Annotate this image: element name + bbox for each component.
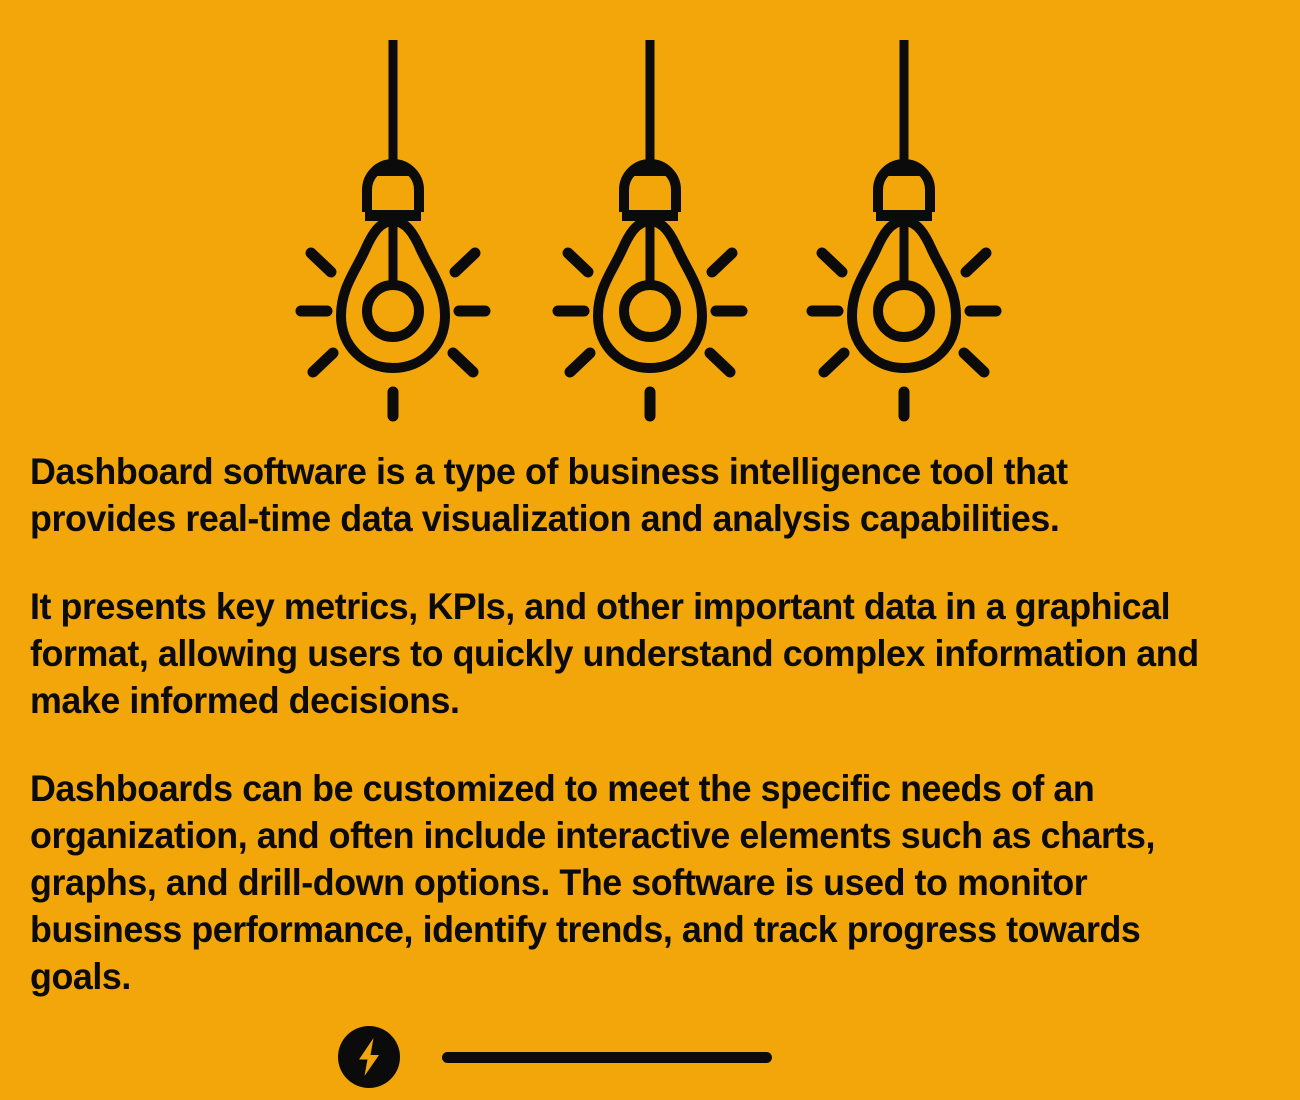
lightbulb-icon-1 xyxy=(301,40,485,416)
paragraph-2: It presents key metrics, KPIs, and other… xyxy=(30,583,1222,724)
paragraph-3: Dashboards can be customized to meet the… xyxy=(30,765,1222,1000)
lightbulb-icon-2 xyxy=(558,40,742,416)
footer-rule xyxy=(442,1052,772,1063)
body-copy: Dashboard software is a type of business… xyxy=(30,448,1278,1000)
lightbulb-illustration xyxy=(0,0,1300,440)
footer xyxy=(338,1025,808,1089)
lightning-bolt-icon xyxy=(338,1026,400,1088)
paragraph-1: Dashboard software is a type of business… xyxy=(30,448,1222,542)
lightbulb-icon-3 xyxy=(812,40,996,416)
poster-canvas: Dashboard software is a type of business… xyxy=(0,0,1300,1100)
